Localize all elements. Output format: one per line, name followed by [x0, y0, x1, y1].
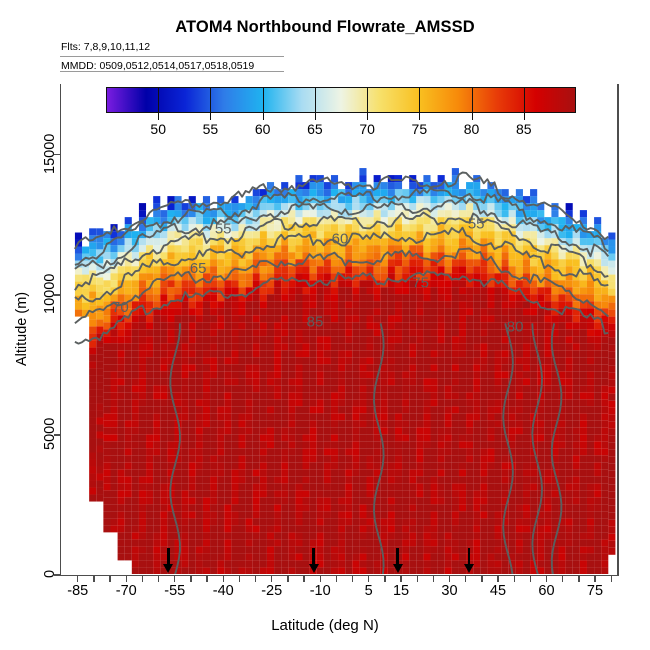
x-axis-tick-label: 60 [538, 583, 554, 599]
x-axis-tick [174, 575, 175, 582]
x-axis-tick [223, 575, 224, 582]
x-axis-tick [433, 575, 434, 582]
x-axis-tick [320, 575, 321, 582]
x-axis-tick [303, 575, 304, 582]
x-axis-tick [336, 575, 337, 582]
contour-label: 70 [112, 299, 129, 316]
x-axis-tick [465, 575, 466, 582]
x-axis-tick [142, 575, 143, 582]
x-axis-tick-label: -25 [261, 583, 282, 599]
header-divider-bottom [60, 71, 284, 72]
contour-label: 75 [412, 275, 429, 292]
x-axis-tick [126, 575, 127, 582]
y-axis-tick-label: 5000 [42, 418, 58, 450]
flights-label: Flts: 7,8,9,10,11,12 [61, 41, 150, 53]
x-axis-tick-label: 15 [393, 583, 409, 599]
y-axis-title: Altitude (m) [14, 292, 30, 366]
x-axis-tick-label: -10 [310, 583, 331, 599]
contour-label: 80 [506, 319, 523, 336]
x-axis-tick [497, 575, 498, 582]
x-axis-tick [594, 575, 595, 582]
x-axis-tick [546, 575, 547, 582]
x-axis-tick [352, 575, 353, 582]
x-axis-tick [109, 575, 110, 582]
y-axis-tick-label: 0 [42, 570, 58, 578]
x-axis-tick-label: 75 [587, 583, 603, 599]
x-axis-tick-label: 45 [490, 583, 506, 599]
x-axis-tick [400, 575, 401, 582]
x-axis-tick [368, 575, 369, 582]
x-axis-tick [239, 575, 240, 582]
x-axis-tick [514, 575, 515, 582]
x-axis-tick [417, 575, 418, 582]
x-axis-tick [578, 575, 579, 582]
x-axis-tick [77, 575, 78, 582]
contour-label: 85 [306, 314, 323, 331]
x-axis-tick [481, 575, 482, 582]
x-axis-tick [384, 575, 385, 582]
x-axis-tick [287, 575, 288, 582]
x-axis-tick-label: -40 [213, 583, 234, 599]
page-title: ATOM4 Northbound Flowrate_AMSSD [0, 18, 650, 37]
x-axis-tick [449, 575, 450, 582]
x-axis-title: Latitude (deg N) [0, 617, 650, 634]
x-axis-tick [206, 575, 207, 582]
contour-label: 65 [189, 260, 206, 277]
y-axis-tick-label: 10000 [42, 274, 58, 314]
x-axis-tick [271, 575, 272, 582]
contour-label: 60 [331, 230, 348, 247]
header-divider-top [60, 56, 284, 57]
x-axis-tick [158, 575, 159, 582]
x-axis-tick-label: 30 [441, 583, 457, 599]
contour-label: 55 [467, 216, 484, 233]
x-axis-tick [93, 575, 94, 582]
contour-label: 55 [214, 221, 231, 238]
x-axis-tick-label: -70 [116, 583, 137, 599]
x-axis-tick-label: 5 [365, 583, 373, 599]
heatmap-canvas: 5560657075855580 [62, 84, 618, 574]
x-axis-tick [190, 575, 191, 582]
x-axis-tick [255, 575, 256, 582]
x-axis-tick [611, 575, 612, 582]
x-axis-tick-label: -55 [164, 583, 185, 599]
y-axis-tick-label: 15000 [42, 134, 58, 174]
x-axis-tick [530, 575, 531, 582]
x-axis-tick-label: -85 [67, 583, 88, 599]
x-axis-tick [562, 575, 563, 582]
